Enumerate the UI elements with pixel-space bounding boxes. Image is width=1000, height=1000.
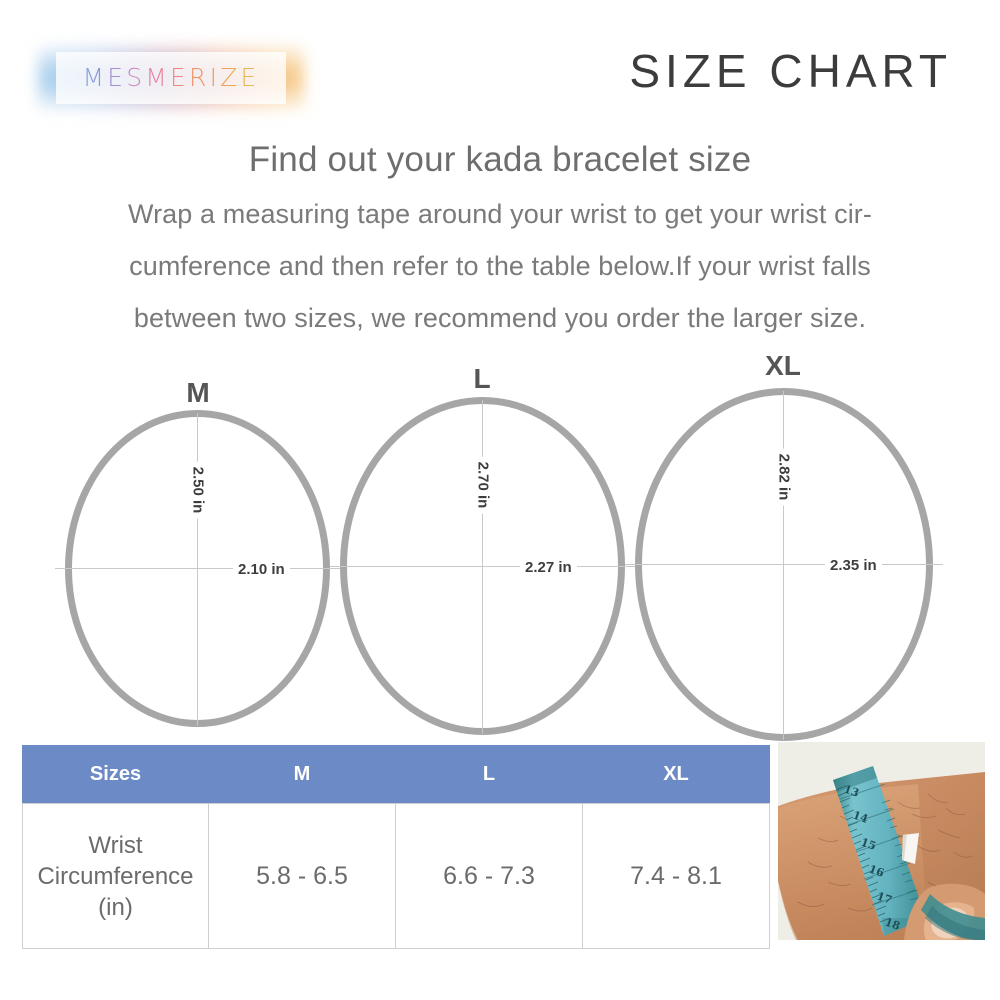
oval-unit-m: M 2.50 in 2.10 in [65, 365, 330, 745]
row-label-line-1: Wrist [24, 830, 207, 861]
oval-width-label-l: 2.27 in [520, 558, 577, 577]
size-table: Sizes M L XL Wrist Circumference (in) 5.… [22, 745, 770, 949]
intro-heading: Find out your kada bracelet size [0, 140, 1000, 180]
oval-unit-l: L 2.70 in 2.27 in [340, 355, 625, 745]
intro-line-2: cumference and then refer to the table b… [0, 240, 1000, 292]
logo-text: MESMERIZE [56, 52, 286, 104]
table-cell-l: 6.6 - 7.3 [396, 804, 583, 949]
table-header-m: M [209, 746, 396, 804]
oval-crosshair-horizontal-m [55, 568, 340, 569]
row-label-line-3: (in) [24, 892, 207, 923]
page-title: SIZE CHART [629, 44, 952, 98]
oval-unit-xl: XL 2.82 in 2.35 in [635, 345, 933, 745]
wrist-measuring-photo: 13 14 15 16 17 18 [778, 742, 985, 940]
oval-height-label-l: 2.70 in [474, 457, 493, 514]
table-cell-m: 5.8 - 6.5 [209, 804, 396, 949]
intro-line-3: between two sizes, we recommend you orde… [0, 292, 1000, 344]
brand-logo: MESMERIZE [56, 52, 286, 104]
oval-size-label-m: M [186, 377, 209, 409]
oval-crosshair-horizontal-l [330, 566, 635, 567]
oval-size-label-xl: XL [765, 350, 801, 382]
oval-crosshair-vertical-m [197, 413, 198, 726]
table-header-sizes: Sizes [23, 746, 209, 804]
table-header-row: Sizes M L XL [23, 746, 770, 804]
oval-height-label-m: 2.50 in [189, 462, 208, 519]
oval-crosshair-horizontal-xl [625, 564, 943, 565]
intro-line-1: Wrap a measuring tape around your wrist … [0, 188, 1000, 240]
oval-crosshair-vertical-xl [783, 391, 784, 740]
oval-width-label-xl: 2.35 in [825, 556, 882, 575]
oval-crosshair-vertical-l [482, 400, 483, 734]
table-header-xl: XL [583, 746, 770, 804]
wrist-photo-illustration: 13 14 15 16 17 18 [778, 742, 985, 940]
oval-size-label-l: L [473, 363, 490, 395]
row-label-line-2: Circumference [24, 861, 207, 892]
page-header: MESMERIZE SIZE CHART [0, 0, 1000, 130]
oval-diagram-group: M 2.50 in 2.10 in L 2.70 in 2.27 in XL 2… [0, 345, 1000, 745]
table-row: Wrist Circumference (in) 5.8 - 6.5 6.6 -… [23, 804, 770, 949]
oval-width-label-m: 2.10 in [233, 560, 290, 579]
table-cell-xl: 7.4 - 8.1 [583, 804, 770, 949]
table-row-label: Wrist Circumference (in) [23, 804, 209, 949]
intro-block: Find out your kada bracelet size Wrap a … [0, 140, 1000, 344]
table-header-l: L [396, 746, 583, 804]
oval-height-label-xl: 2.82 in [775, 449, 794, 506]
